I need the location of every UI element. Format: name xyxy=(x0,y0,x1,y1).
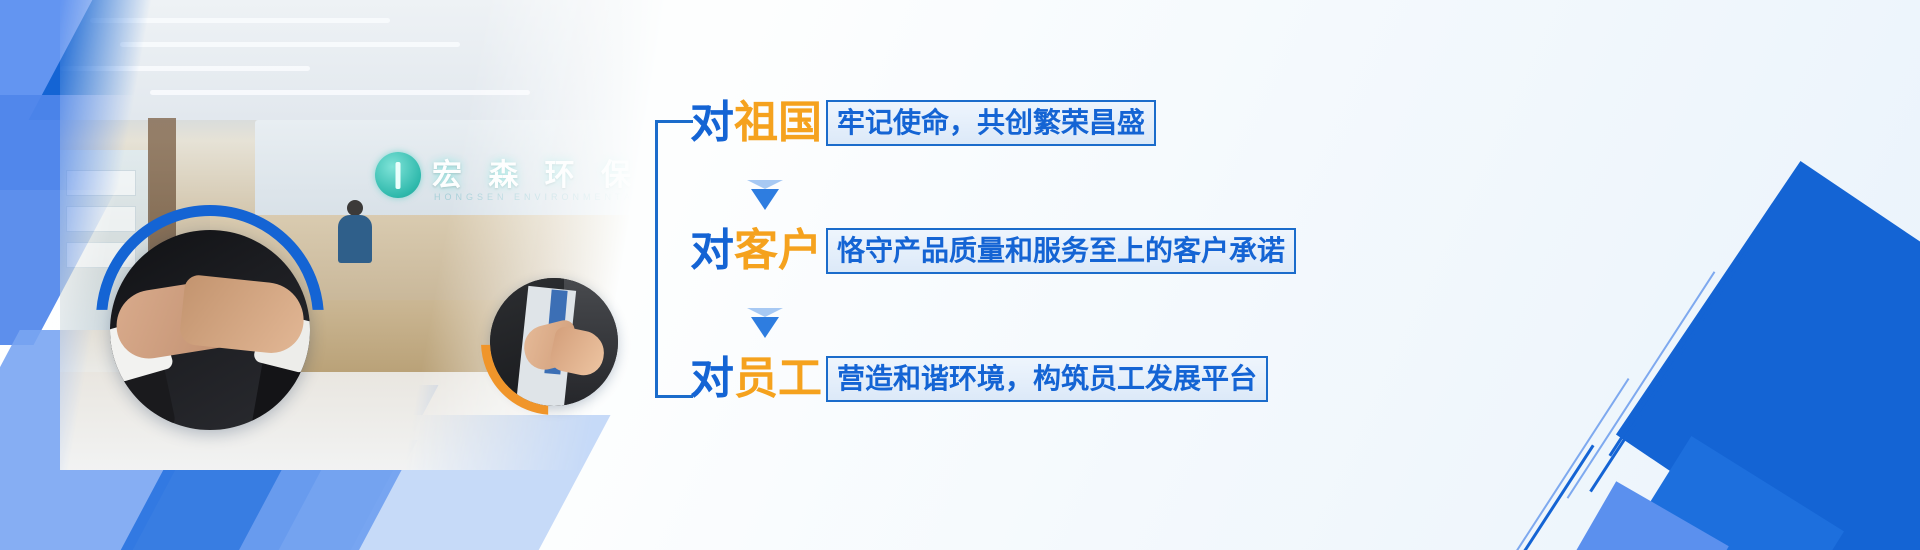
lead-prefix: 对 xyxy=(690,353,734,404)
philosophy-row-customer: 对客户 恪守产品质量和服务至上的客户承诺 xyxy=(690,228,1296,274)
ceiling-light-4 xyxy=(150,90,530,95)
arrow-bottom-part xyxy=(751,189,779,210)
ceiling-light-3 xyxy=(60,66,310,71)
deco-diagonal-line-5 xyxy=(1489,445,1595,550)
philosophy-row-country: 对祖国 牢记使命，共创繁荣昌盛 xyxy=(690,100,1156,146)
lead-prefix: 对 xyxy=(690,225,734,276)
photo-shelf-1 xyxy=(66,170,136,196)
receptionist-head xyxy=(347,200,363,216)
lead-keyword: 祖国 xyxy=(734,97,822,148)
lead-keyword: 员工 xyxy=(734,353,822,404)
bracket-connector xyxy=(655,120,693,398)
receptionist-figure xyxy=(338,200,372,262)
philosophy-statement-customer: 恪守产品质量和服务至上的客户承诺 xyxy=(826,228,1296,274)
lead-keyword: 客户 xyxy=(734,225,822,276)
arrow-bottom-part xyxy=(751,317,779,338)
philosophy-lead-customer: 对客户 xyxy=(690,229,822,273)
arrow-top-part xyxy=(747,308,783,317)
ceiling-light-1 xyxy=(90,18,390,23)
company-sign-text: 宏 森 环 保 xyxy=(432,150,640,194)
philosophy-statement-country: 牢记使命，共创繁荣昌盛 xyxy=(826,100,1156,146)
philosophy-block: 对祖国 牢记使命，共创繁荣昌盛 对客户 恪守产品质量和服务至上的客户承诺 对员工… xyxy=(655,78,1355,478)
lead-prefix: 对 xyxy=(690,97,734,148)
philosophy-lead-country: 对祖国 xyxy=(690,101,822,145)
receptionist-body xyxy=(338,215,372,263)
company-logo-icon xyxy=(375,152,421,198)
banner-root: 宏 森 环 保 HONGSEN ENVIRONMENTAL xyxy=(0,0,1920,550)
philosophy-statement-employee: 营造和谐环境，构筑员工发展平台 xyxy=(826,356,1268,402)
philosophy-row-employee: 对员工 营造和谐环境，构筑员工发展平台 xyxy=(690,356,1268,402)
ceiling-light-2 xyxy=(120,42,460,47)
philosophy-lead-employee: 对员工 xyxy=(690,357,822,401)
company-sign-subtext: HONGSEN ENVIRONMENTAL xyxy=(434,192,643,202)
arrow-top-part xyxy=(747,180,783,189)
photo-shelf-2 xyxy=(66,206,136,232)
